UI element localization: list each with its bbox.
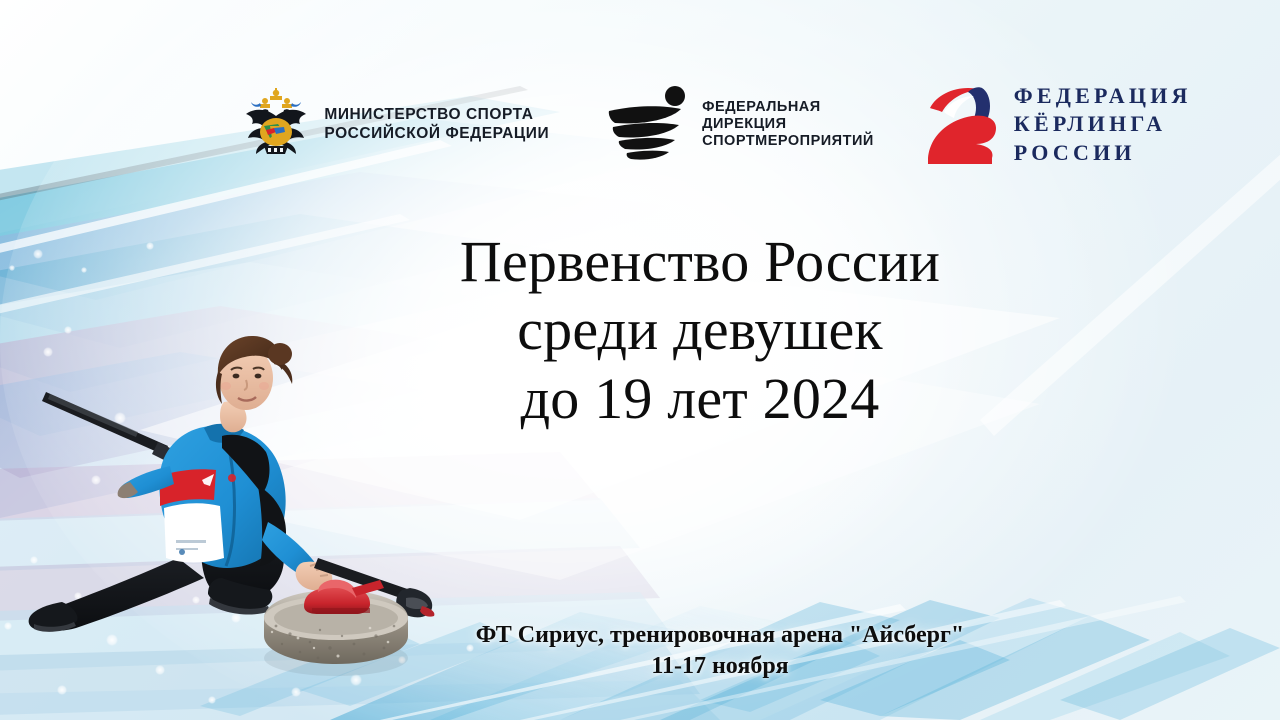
logo-fkr-line-2: КЁРЛИНГА [1014,110,1192,138]
title-line-1: Первенство России [300,228,1100,296]
curling-broom [42,392,186,468]
page-title: Первенство России среди девушек до 19 ле… [300,228,1100,433]
logo-fdsm-line-3: СПОРТМЕРОПРИЯТИЙ [702,133,874,150]
logo-federal-directorate: ФЕДЕРАЛЬНАЯ ДИРЕКЦИЯ СПОРТМЕРОПРИЯТИЙ [605,85,874,165]
logo-fkr-line-1: ФЕДЕРАЦИЯ [1014,82,1192,110]
venue-line: ФТ Сириус, тренировочная арена "Айсберг" [240,620,1200,651]
sponsor-logo-strip: МИНИСТЕРСТВО СПОРТА РОССИЙСКОЙ ФЕДЕРАЦИИ… [0,72,1280,177]
logo-curling-federation-text: ФЕДЕРАЦИЯ КЁРЛИНГА РОССИИ [1014,82,1192,166]
logo-ministry-of-sport-text: МИНИСТЕРСТВО СПОРТА РОССИЙСКОЙ ФЕДЕРАЦИИ [324,106,549,143]
logo-fkr-line-3: РОССИИ [1014,139,1192,167]
poster-canvas: МИНИСТЕРСТВО СПОРТА РОССИЙСКОЙ ФЕДЕРАЦИИ… [0,0,1280,720]
dates-line: 11-17 ноября [240,651,1200,682]
stylized-athlete-bowl-icon [605,85,691,165]
logo-fdsm-line-2: ДИРЕКЦИЯ [702,116,874,133]
logo-federal-directorate-text: ФЕДЕРАЛЬНАЯ ДИРЕКЦИЯ СПОРТМЕРОПРИЯТИЙ [702,99,874,150]
logo-ministry-of-sport: МИНИСТЕРСТВО СПОРТА РОССИЙСКОЙ ФЕДЕРАЦИИ [240,86,549,164]
logo-curling-federation: ФЕДЕРАЦИЯ КЁРЛИНГА РОССИИ [920,82,1192,168]
logo-ministry-line-2: РОССИЙСКОЙ ФЕДЕРАЦИИ [324,125,549,143]
curling-federation-swoosh-icon [920,82,1000,168]
venue-and-dates: ФТ Сириус, тренировочная арена "Айсберг"… [240,620,1200,682]
title-line-2: среди девушек [300,296,1100,364]
logo-fdsm-line-1: ФЕДЕРАЛЬНАЯ [702,99,874,116]
jacket-white-panel [164,503,224,562]
logo-ministry-line-1: МИНИСТЕРСТВО СПОРТА [324,106,549,124]
russian-double-headed-eagle-icon [240,86,312,164]
title-line-3: до 19 лет 2024 [300,365,1100,433]
